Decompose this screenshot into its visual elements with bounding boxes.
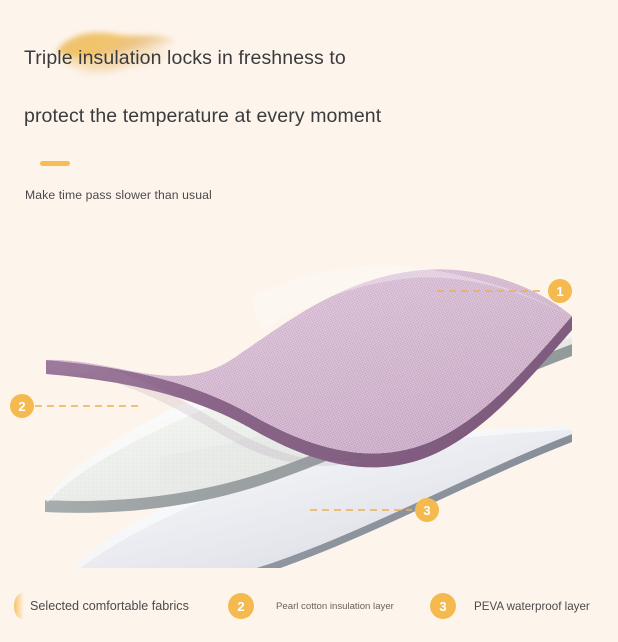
callout-1-number: 1 xyxy=(556,284,563,299)
callout-2-number: 2 xyxy=(18,399,25,414)
legend-item-2[interactable]: 2 Pearl cotton insulation layer xyxy=(228,585,394,627)
layered-fabric-diagram: 1 2 3 xyxy=(0,238,618,568)
legend-item-3[interactable]: 3 PEVA waterproof layer xyxy=(430,585,590,627)
legend-label-3: PEVA waterproof layer xyxy=(474,600,590,613)
page-title-line-2: protect the temperature at every moment xyxy=(24,105,381,128)
product-feature-page: Triple insulation locks in freshness to … xyxy=(0,0,618,642)
diagram-svg: 1 2 3 xyxy=(0,238,618,568)
legend-item-1[interactable]: 1 Selected comfortable fabrics xyxy=(14,585,189,627)
accent-divider-dash xyxy=(40,161,70,166)
callout-2: 2 xyxy=(10,394,140,418)
layer-legend: 1 Selected comfortable fabrics 2 Pearl c… xyxy=(0,585,618,640)
page-subtitle: Make time pass slower than usual xyxy=(25,188,212,202)
legend-label-1: Selected comfortable fabrics xyxy=(30,599,189,613)
legend-label-2: Pearl cotton insulation layer xyxy=(276,601,394,612)
legend-badge-2: 2 xyxy=(228,593,254,619)
header-section: Triple insulation locks in freshness to … xyxy=(0,0,618,230)
legend-badge-3: 3 xyxy=(430,593,456,619)
callout-3-number: 3 xyxy=(423,503,430,518)
page-title-line-1: Triple insulation locks in freshness to xyxy=(24,47,346,70)
legend-badge-1: 1 xyxy=(14,593,30,619)
